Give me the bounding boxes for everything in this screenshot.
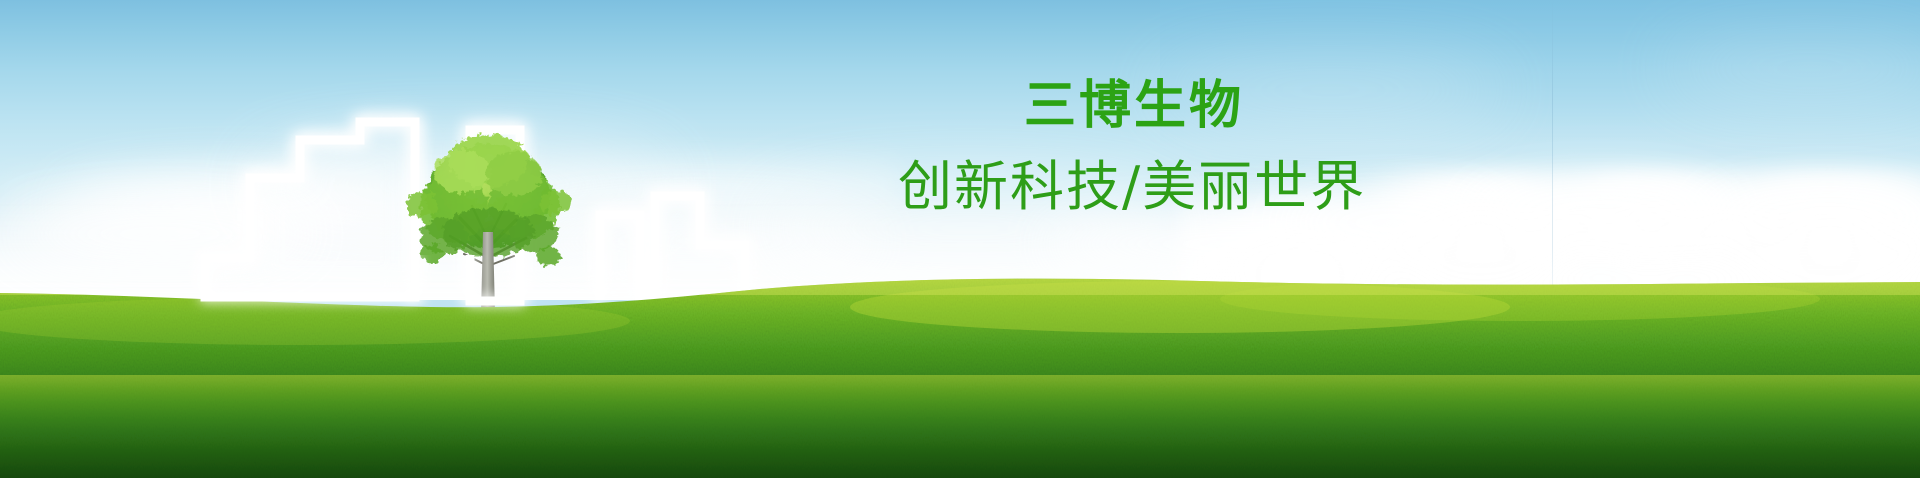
- page-title: 三博生物: [1024, 80, 1244, 132]
- city-outline-over-grass: [0, 255, 1920, 335]
- page-subtitle: 创新科技/美丽世界: [898, 160, 1366, 214]
- hero-banner: 三博生物 创新科技/美丽世界: [0, 0, 1920, 478]
